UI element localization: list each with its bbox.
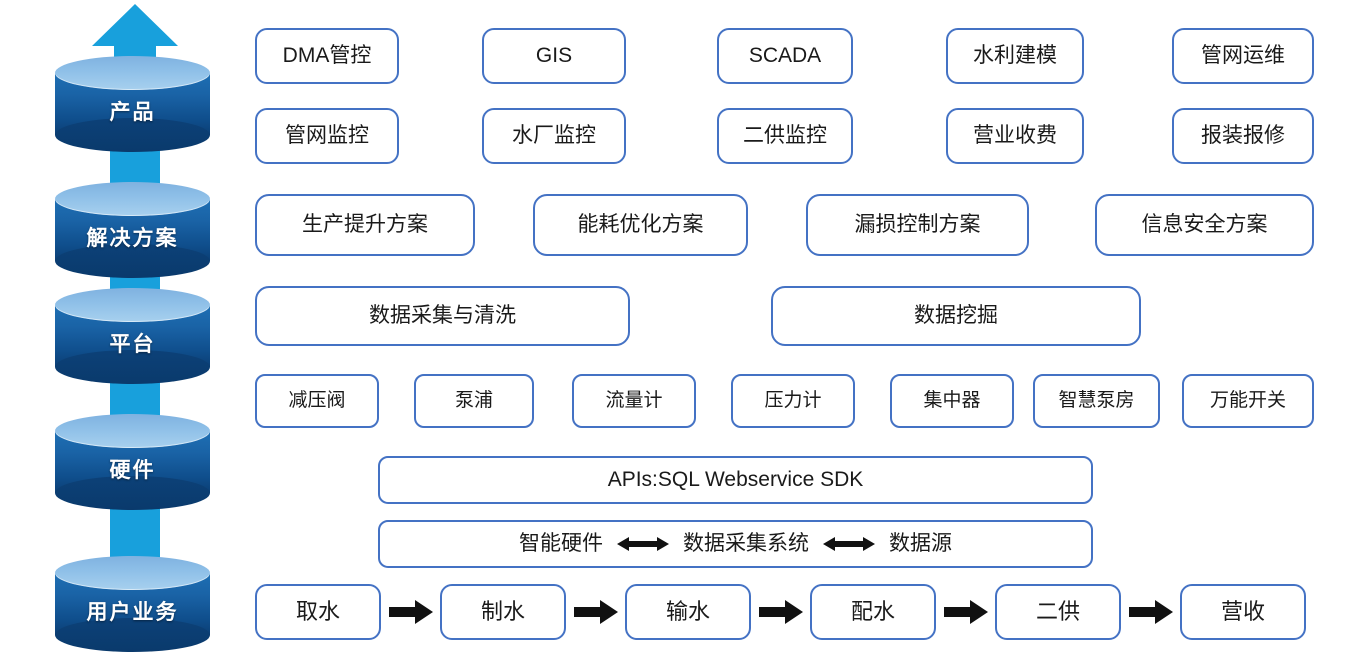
hardware-box-smart-pump-room[interactable]: 智慧泵房 — [1033, 374, 1160, 428]
product-box-waterworks-monitoring[interactable]: 水厂监控 — [482, 108, 626, 164]
layer-label-hardware: 硬件 — [55, 448, 210, 494]
data-chain-bar[interactable]: 智能硬件 数据采集系统 数据源 — [378, 520, 1093, 568]
solution-box-production-improvement[interactable]: 生产提升方案 — [255, 194, 475, 256]
process-box-secondary-supply[interactable]: 二供 — [995, 584, 1121, 640]
process-box-revenue[interactable]: 营收 — [1180, 584, 1306, 640]
platform-box-data-mining[interactable]: 数据挖掘 — [771, 286, 1141, 346]
chain-node-smart-hardware: 智能硬件 — [519, 532, 603, 555]
cylinder-top — [55, 556, 210, 590]
process-box-water-transmission[interactable]: 输水 — [625, 584, 751, 640]
product-box-gis[interactable]: GIS — [482, 28, 626, 84]
layer-label-platform: 平台 — [55, 322, 210, 368]
api-bar-label: APIs:SQL Webservice SDK — [608, 468, 864, 491]
layer-cylinder-hardware[interactable]: 硬件 — [55, 414, 210, 510]
layer-cylinder-business[interactable]: 用户业务 — [55, 556, 210, 652]
cylinder-top — [55, 414, 210, 448]
cylinder-top — [55, 182, 210, 216]
product-box-dma[interactable]: DMA管控 — [255, 28, 399, 84]
cylinder-top — [55, 56, 210, 90]
hardware-box-flow-meter[interactable]: 流量计 — [572, 374, 696, 428]
layer-label-solution: 解决方案 — [55, 216, 210, 262]
api-bar[interactable]: APIs:SQL Webservice SDK — [378, 456, 1093, 504]
product-box-scada[interactable]: SCADA — [717, 28, 853, 84]
platform-box-data-collection-cleaning[interactable]: 数据采集与清洗 — [255, 286, 630, 346]
diagram-content: DMA管控 GIS SCADA 水利建模 管网运维 管网监控 水厂监控 二供监控… — [250, 0, 1345, 653]
product-box-secondary-supply-monitoring[interactable]: 二供监控 — [717, 108, 853, 164]
flow-arrow-icon-3 — [759, 599, 803, 625]
layer-label-business: 用户业务 — [55, 590, 210, 636]
hardware-box-universal-switch[interactable]: 万能开关 — [1182, 374, 1314, 428]
layer-cylinder-solution[interactable]: 解决方案 — [55, 182, 210, 278]
bidirectional-arrow-icon — [617, 536, 669, 552]
hardware-box-pump[interactable]: 泵浦 — [414, 374, 534, 428]
solution-box-information-security[interactable]: 信息安全方案 — [1095, 194, 1314, 256]
hardware-box-concentrator[interactable]: 集中器 — [890, 374, 1014, 428]
product-box-hydraulic-modeling[interactable]: 水利建模 — [946, 28, 1084, 84]
layer-cylinder-platform[interactable]: 平台 — [55, 288, 210, 384]
chain-node-data-source: 数据源 — [889, 532, 952, 555]
flow-arrow-icon-2 — [574, 599, 618, 625]
product-box-installation-repair[interactable]: 报装报修 — [1172, 108, 1314, 164]
chain-node-data-acquisition-system: 数据采集系统 — [683, 532, 809, 555]
solution-box-leakage-control[interactable]: 漏损控制方案 — [806, 194, 1029, 256]
solution-box-energy-optimization[interactable]: 能耗优化方案 — [533, 194, 748, 256]
flow-arrow-icon-4 — [944, 599, 988, 625]
cylinder-top — [55, 288, 210, 322]
flow-arrow-icon-5 — [1129, 599, 1173, 625]
product-box-billing[interactable]: 营业收费 — [946, 108, 1084, 164]
process-box-water-intake[interactable]: 取水 — [255, 584, 381, 640]
product-box-pipe-network-om[interactable]: 管网运维 — [1172, 28, 1314, 84]
hardware-box-pressure-gauge[interactable]: 压力计 — [731, 374, 855, 428]
process-box-water-distribution[interactable]: 配水 — [810, 584, 936, 640]
layer-stack: 产品 解决方案 平台 硬件 用户业务 — [0, 0, 250, 653]
layer-label-product: 产品 — [55, 90, 210, 136]
process-box-water-treatment[interactable]: 制水 — [440, 584, 566, 640]
hardware-box-pressure-reducing-valve[interactable]: 减压阀 — [255, 374, 379, 428]
bidirectional-arrow-icon — [823, 536, 875, 552]
layer-cylinder-product[interactable]: 产品 — [55, 56, 210, 152]
flow-arrow-icon-1 — [389, 599, 433, 625]
data-chain-label: 智能硬件 数据采集系统 数据源 — [519, 532, 952, 555]
product-box-pipe-network-monitoring[interactable]: 管网监控 — [255, 108, 399, 164]
